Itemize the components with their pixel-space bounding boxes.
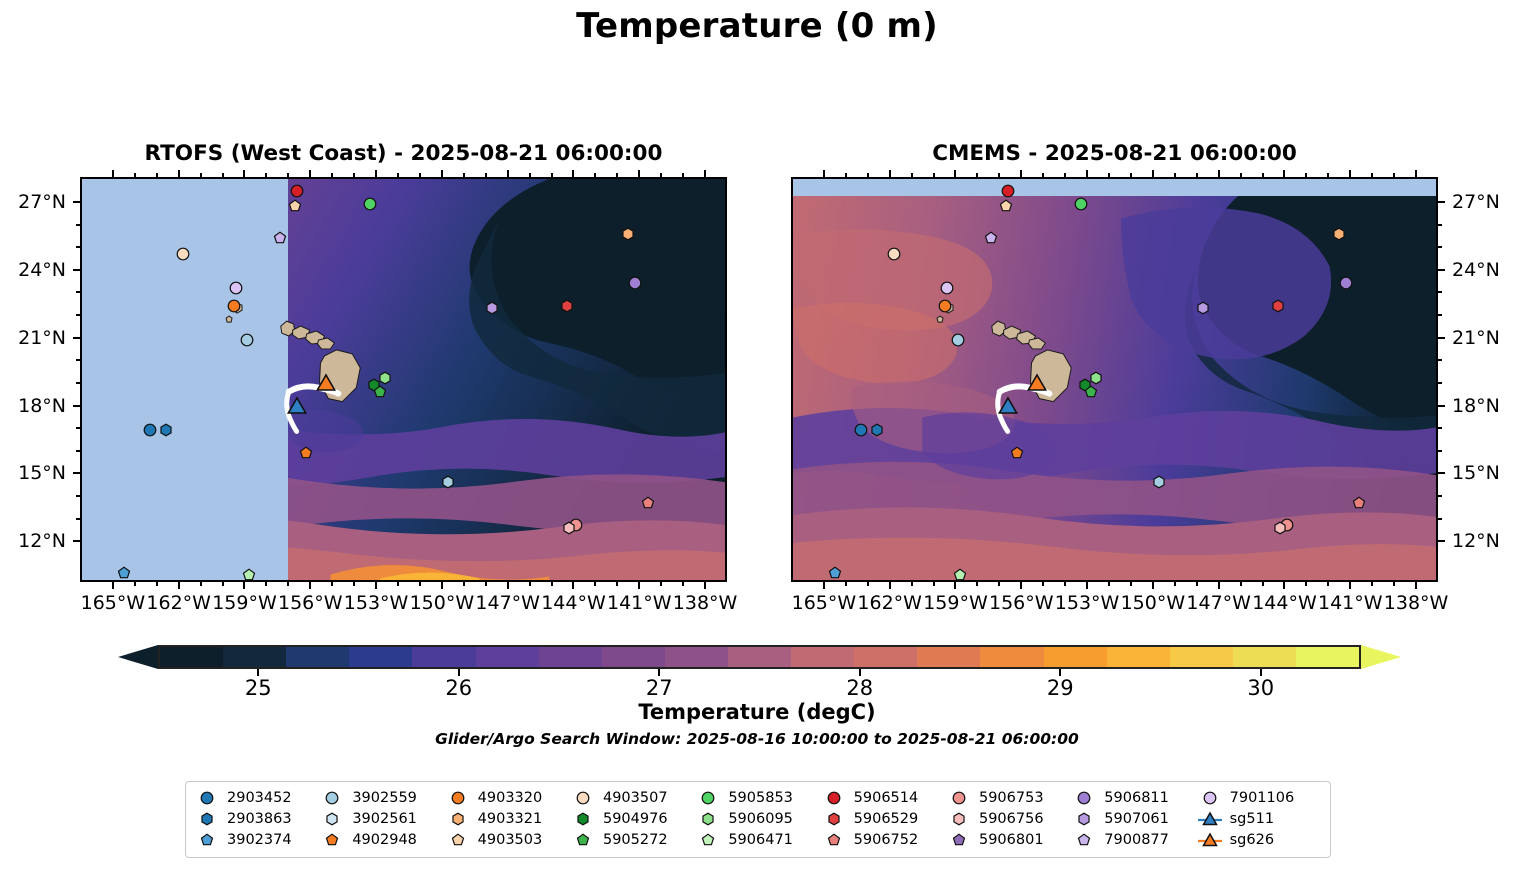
legend-label: 5906529 — [854, 811, 919, 827]
x-axis-minor-tick — [1064, 582, 1066, 586]
legend-item[interactable]: 3902561 — [319, 810, 444, 828]
legend-column: 490332049033214903503 — [445, 789, 570, 849]
argo-float-marker[interactable] — [951, 333, 965, 347]
y-axis-minor-tick — [1438, 382, 1442, 384]
x-axis-tick — [1086, 170, 1088, 177]
x-axis-label: 147°W — [1186, 592, 1251, 614]
x-axis-label: 165°W — [81, 592, 146, 614]
colorbar-band — [412, 647, 475, 667]
x-axis-tick — [309, 170, 311, 177]
colorbar-band — [980, 647, 1043, 667]
legend-item[interactable]: sg511 — [1197, 810, 1322, 828]
x-axis-minor-tick — [397, 173, 399, 177]
x-axis-minor-tick — [463, 173, 465, 177]
x-axis-minor-tick — [1174, 173, 1176, 177]
y-axis-minor-tick — [1438, 450, 1442, 452]
x-axis-minor-tick — [1393, 173, 1395, 177]
colorbar-band — [791, 647, 854, 667]
y-axis-label: 21°N — [1452, 327, 1500, 349]
argo-float-marker[interactable] — [485, 301, 499, 315]
legend-label: 3902561 — [352, 811, 417, 827]
x-axis-minor-tick — [867, 173, 869, 177]
y-axis-tick — [1438, 540, 1445, 542]
argo-float-marker[interactable] — [953, 568, 967, 582]
legend-label: 2903452 — [227, 790, 292, 806]
legend-label: 4903321 — [478, 811, 543, 827]
legend-marker-circle — [570, 789, 596, 807]
x-axis-minor-tick — [485, 173, 487, 177]
x-axis-tick — [638, 170, 640, 177]
legend-label: 5906752 — [854, 832, 919, 848]
colorbar-min-extend — [118, 645, 158, 669]
x-axis-minor-tick — [998, 173, 1000, 177]
legend-marker-pentagon — [319, 831, 345, 849]
legend-item[interactable]: 3902559 — [319, 789, 444, 807]
argo-float-marker[interactable] — [1271, 299, 1285, 313]
argo-float-marker[interactable] — [887, 247, 901, 261]
legend-label: 5907061 — [1104, 811, 1169, 827]
glider-marker[interactable] — [1028, 377, 1045, 394]
y-axis-minor-tick — [76, 246, 80, 248]
legend-column: 490350759049765905272 — [570, 789, 695, 849]
x-axis-tick — [1086, 582, 1088, 589]
y-axis-minor-tick — [1438, 495, 1442, 497]
glider-marker[interactable] — [317, 377, 334, 394]
legend-label: 4902948 — [352, 832, 417, 848]
legend-label: 5905272 — [603, 832, 668, 848]
x-axis-minor-tick — [397, 582, 399, 586]
x-axis-label: 141°W — [607, 592, 672, 614]
legend-item[interactable]: 2903863 — [194, 810, 319, 828]
x-axis-tick — [507, 582, 509, 589]
legend-item[interactable]: 4903320 — [445, 789, 570, 807]
no-data-strip-cmems — [793, 179, 1436, 196]
argo-float-marker[interactable] — [940, 281, 954, 295]
legend-marker-circle — [1197, 789, 1223, 807]
legend-item[interactable]: 5906514 — [821, 789, 946, 807]
colorbar-band — [223, 647, 286, 667]
x-axis-tick — [1283, 170, 1285, 177]
argo-float-marker[interactable] — [288, 199, 302, 213]
y-axis-label: 24°N — [18, 259, 66, 281]
x-axis-minor-tick — [594, 173, 596, 177]
y-axis-tick — [1438, 472, 1445, 474]
y-axis-minor-tick — [1438, 246, 1442, 248]
legend-marker-pentagon — [946, 831, 972, 849]
argo-float-marker[interactable] — [240, 333, 254, 347]
colorbar-band — [476, 647, 539, 667]
x-axis-minor-tick — [1240, 582, 1242, 586]
argo-float-marker[interactable] — [117, 566, 131, 580]
argo-float-marker[interactable] — [854, 423, 868, 437]
x-axis-minor-tick — [353, 173, 355, 177]
argo-float-marker[interactable] — [1010, 446, 1024, 460]
x-axis-minor-tick — [976, 582, 978, 586]
y-axis-tick — [1438, 269, 1445, 271]
legend-label: 3902559 — [352, 790, 417, 806]
x-axis-tick — [572, 582, 574, 589]
argo-float-marker[interactable] — [1089, 371, 1103, 385]
x-axis-minor-tick — [911, 173, 913, 177]
x-axis-minor-tick — [1130, 582, 1132, 586]
x-axis-minor-tick — [1305, 582, 1307, 586]
y-axis-label: 24°N — [1452, 259, 1500, 281]
legend-item[interactable]: 4903507 — [570, 789, 695, 807]
x-axis-tick — [1020, 170, 1022, 177]
legend-label: 4903507 — [603, 790, 668, 806]
x-axis-minor-tick — [1108, 173, 1110, 177]
y-axis-tick — [73, 269, 80, 271]
legend-marker-pentagon — [821, 831, 847, 849]
y-axis-minor-tick — [76, 224, 80, 226]
x-axis-tick — [375, 582, 377, 589]
x-axis-tick — [1020, 582, 1022, 589]
colorbar-tick — [458, 669, 460, 676]
colorbar-tick-label: 29 — [1047, 676, 1074, 700]
legend-label: 5905853 — [728, 790, 793, 806]
y-axis-minor-tick — [76, 359, 80, 361]
legend-item[interactable]: 5905272 — [570, 831, 695, 849]
colorbar-tick-label: 26 — [445, 676, 472, 700]
y-axis-minor-tick — [76, 291, 80, 293]
legend-label: 4903320 — [478, 790, 543, 806]
x-axis-minor-tick — [933, 582, 935, 586]
argo-float-marker[interactable] — [363, 197, 377, 211]
argo-float-marker[interactable] — [999, 199, 1013, 213]
legend-item[interactable]: 5906811 — [1071, 789, 1196, 807]
y-axis-label: 27°N — [18, 191, 66, 213]
legend-item[interactable]: 5907061 — [1071, 810, 1196, 828]
x-axis-minor-tick — [1130, 173, 1132, 177]
colorbar-band — [160, 647, 223, 667]
legend-item[interactable]: 5905853 — [695, 789, 820, 807]
legend-marker-pentagon — [194, 831, 220, 849]
legend-item[interactable]: 5906095 — [695, 810, 820, 828]
x-axis-tick — [112, 170, 114, 177]
glider-marker[interactable] — [289, 399, 306, 416]
x-axis-tick — [889, 582, 891, 589]
x-axis-minor-tick — [998, 582, 1000, 586]
argo-float-marker[interactable] — [560, 299, 574, 313]
x-axis-label: 153°W — [344, 592, 409, 614]
x-axis-tick — [889, 170, 891, 177]
x-axis-tick — [243, 170, 245, 177]
x-axis-minor-tick — [529, 173, 531, 177]
legend-marker-pentagon — [1071, 831, 1097, 849]
x-axis-minor-tick — [660, 173, 662, 177]
colorbar-band — [349, 647, 412, 667]
legend-marker-circle — [821, 789, 847, 807]
legend-label: 7901106 — [1230, 790, 1295, 806]
x-axis-minor-tick — [845, 173, 847, 177]
argo-float-marker[interactable] — [1352, 496, 1366, 510]
legend-label: sg626 — [1230, 832, 1274, 848]
x-axis-label: 147°W — [475, 592, 540, 614]
legend-column: 590651459065295906752 — [821, 789, 946, 849]
legend-marker-circle — [194, 789, 220, 807]
x-axis-minor-tick — [660, 582, 662, 586]
y-axis-minor-tick — [1438, 518, 1442, 520]
x-axis-tick — [375, 170, 377, 177]
argo-float-marker[interactable] — [984, 231, 998, 245]
colorbar-max-extend — [1361, 645, 1401, 669]
platform-legend[interactable]: 2903452290386339023743902559390256149029… — [185, 781, 1331, 858]
argo-float-marker[interactable] — [641, 496, 655, 510]
argo-float-marker[interactable] — [176, 247, 190, 261]
argo-float-marker[interactable] — [628, 276, 642, 290]
x-axis-minor-tick — [156, 173, 158, 177]
y-axis-minor-tick — [1438, 314, 1442, 316]
argo-float-marker[interactable] — [373, 385, 387, 399]
legend-item[interactable]: 7901106 — [1197, 789, 1322, 807]
colorbar-band — [665, 647, 728, 667]
argo-float-marker[interactable] — [562, 521, 576, 535]
argo-float-marker[interactable] — [378, 371, 392, 385]
x-axis-minor-tick — [551, 173, 553, 177]
legend-column: 590675359067565906801 — [946, 789, 1071, 849]
colorbar-band — [917, 647, 980, 667]
legend-item[interactable]: 2903452 — [194, 789, 319, 807]
legend-label: 5906811 — [1104, 790, 1169, 806]
argo-float-marker[interactable] — [1273, 521, 1287, 535]
argo-float-marker[interactable] — [1339, 276, 1353, 290]
figure-root: Temperature (0 m) RTOFS (West Coast) - 2… — [0, 0, 1514, 889]
x-axis-minor-tick — [1371, 582, 1373, 586]
colorbar-band — [1233, 647, 1296, 667]
legend-label: 5906095 — [728, 811, 793, 827]
argo-float-marker[interactable] — [938, 299, 952, 313]
x-axis-tick — [1415, 582, 1417, 589]
x-axis-minor-tick — [1042, 582, 1044, 586]
x-axis-label: 156°W — [278, 592, 343, 614]
x-axis-minor-tick — [331, 173, 333, 177]
argo-float-marker[interactable] — [1196, 301, 1210, 315]
x-axis-tick — [638, 582, 640, 589]
x-axis-minor-tick — [933, 173, 935, 177]
x-axis-label: 138°W — [1384, 592, 1449, 614]
legend-item[interactable]: 5906753 — [946, 789, 1071, 807]
x-axis-minor-tick — [551, 582, 553, 586]
y-axis-minor-tick — [76, 427, 80, 429]
argo-float-marker[interactable] — [273, 231, 287, 245]
x-axis-minor-tick — [1174, 582, 1176, 586]
x-axis-minor-tick — [867, 582, 869, 586]
legend-label: 5906514 — [854, 790, 919, 806]
x-axis-minor-tick — [331, 582, 333, 586]
x-axis-minor-tick — [1196, 173, 1198, 177]
y-axis-label: 15°N — [1452, 462, 1500, 484]
y-axis-label: 27°N — [1452, 191, 1500, 213]
colorbar-band — [1044, 647, 1107, 667]
y-axis-minor-tick — [76, 518, 80, 520]
x-axis-label: 159°W — [923, 592, 988, 614]
x-axis-minor-tick — [845, 582, 847, 586]
colorbar-tick — [1059, 669, 1061, 676]
legend-marker-circle — [1071, 789, 1097, 807]
colorbar-tick — [1260, 669, 1262, 676]
legend-marker-hexagon — [695, 810, 721, 828]
y-axis-label: 18°N — [1452, 395, 1500, 417]
legend-item[interactable]: 7900877 — [1071, 831, 1196, 849]
legend-item[interactable]: 3902374 — [194, 831, 319, 849]
x-axis-minor-tick — [419, 173, 421, 177]
x-axis-minor-tick — [463, 582, 465, 586]
legend-marker-circle — [695, 789, 721, 807]
y-axis-minor-tick — [1438, 359, 1442, 361]
legend-item[interactable]: 4903503 — [445, 831, 570, 849]
x-axis-label: 150°W — [410, 592, 475, 614]
x-axis-label: 144°W — [1252, 592, 1317, 614]
x-axis-minor-tick — [485, 582, 487, 586]
argo-float-marker[interactable] — [870, 423, 884, 437]
y-axis-tick — [73, 337, 80, 339]
legend-marker-hexagon — [445, 810, 471, 828]
legend-marker-hexagon — [570, 810, 596, 828]
x-axis-label: 165°W — [792, 592, 857, 614]
legend-marker-circle — [946, 789, 972, 807]
x-axis-tick — [1415, 170, 1417, 177]
legend-item[interactable]: 5906471 — [695, 831, 820, 849]
glider-marker[interactable] — [1000, 399, 1017, 416]
argo-float-marker[interactable] — [441, 475, 455, 489]
legend-item[interactable]: 5906529 — [821, 810, 946, 828]
x-axis-minor-tick — [976, 173, 978, 177]
x-axis-minor-tick — [682, 173, 684, 177]
colorbar-band — [602, 647, 665, 667]
argo-float-marker[interactable] — [242, 568, 256, 582]
x-axis-minor-tick — [156, 582, 158, 586]
x-axis-minor-tick — [134, 173, 136, 177]
argo-float-marker[interactable] — [828, 566, 842, 580]
x-axis-minor-tick — [1327, 582, 1329, 586]
x-axis-minor-tick — [911, 582, 913, 586]
legend-column: 590585359060955906471 — [695, 789, 820, 849]
colorbar-band — [1107, 647, 1170, 667]
colorbar-bands — [158, 645, 1361, 669]
y-axis-tick — [1438, 201, 1445, 203]
x-axis-minor-tick — [594, 582, 596, 586]
y-axis-minor-tick — [1438, 224, 1442, 226]
legend-marker-pentagon — [570, 831, 596, 849]
argo-float-marker[interactable] — [159, 423, 173, 437]
x-axis-tick — [1152, 582, 1154, 589]
legend-item[interactable]: 5906801 — [946, 831, 1071, 849]
y-axis-minor-tick — [76, 495, 80, 497]
legend-column: 390255939025614902948 — [319, 789, 444, 849]
argo-float-marker[interactable] — [621, 227, 635, 241]
x-axis-label: 162°W — [146, 592, 211, 614]
x-axis-tick — [112, 582, 114, 589]
x-axis-label: 162°W — [857, 592, 922, 614]
colorbar-tick-label: 27 — [646, 676, 673, 700]
x-axis-tick — [1218, 582, 1220, 589]
colorbar-band — [1170, 647, 1233, 667]
argo-float-marker[interactable] — [290, 184, 304, 198]
legend-item[interactable]: 5904976 — [570, 810, 695, 828]
colorbar-band — [854, 647, 917, 667]
argo-float-marker[interactable] — [1152, 475, 1166, 489]
argo-float-marker[interactable] — [1001, 184, 1015, 198]
x-axis-tick — [309, 582, 311, 589]
argo-float-marker[interactable] — [1332, 227, 1346, 241]
argo-float-marker[interactable] — [227, 299, 241, 313]
colorbar-tick-label: 28 — [846, 676, 873, 700]
x-axis-tick — [954, 582, 956, 589]
colorbar-tick-label: 25 — [245, 676, 272, 700]
argo-float-marker[interactable] — [1074, 197, 1088, 211]
legend-marker-pentagon — [695, 831, 721, 849]
colorbar-tick — [658, 669, 660, 676]
legend-item[interactable]: sg626 — [1197, 831, 1322, 849]
x-axis-minor-tick — [1262, 173, 1264, 177]
glider-track-symbol — [1197, 831, 1223, 849]
x-axis-tick — [954, 170, 956, 177]
x-axis-minor-tick — [1240, 173, 1242, 177]
legend-label: 5906801 — [979, 832, 1044, 848]
x-axis-minor-tick — [1262, 582, 1264, 586]
legend-label: 7900877 — [1104, 832, 1169, 848]
x-axis-minor-tick — [265, 173, 267, 177]
legend-item[interactable]: 5906752 — [821, 831, 946, 849]
legend-column: 290345229038633902374 — [194, 789, 319, 849]
colorbar-tick — [257, 669, 259, 676]
x-axis-label: 150°W — [1121, 592, 1186, 614]
colorbar[interactable] — [118, 645, 1401, 669]
x-axis-minor-tick — [616, 173, 618, 177]
argo-float-marker[interactable] — [1084, 385, 1098, 399]
no-data-mask-rtofs — [82, 179, 288, 580]
x-axis-minor-tick — [287, 582, 289, 586]
legend-label: 5906471 — [728, 832, 793, 848]
legend-item[interactable]: 4903321 — [445, 810, 570, 828]
legend-marker-circle — [445, 789, 471, 807]
legend-item[interactable]: 5906756 — [946, 810, 1071, 828]
x-axis-tick — [704, 582, 706, 589]
legend-marker-pentagon — [445, 831, 471, 849]
y-axis-label: 18°N — [18, 395, 66, 417]
x-axis-minor-tick — [134, 582, 136, 586]
x-axis-minor-tick — [353, 582, 355, 586]
y-axis-minor-tick — [76, 314, 80, 316]
legend-label: 5906756 — [979, 811, 1044, 827]
panel-title-cmems: CMEMS - 2025-08-21 06:00:00 — [791, 141, 1438, 166]
legend-marker-hexagon — [319, 810, 345, 828]
x-axis-minor-tick — [1371, 173, 1373, 177]
x-axis-minor-tick — [1064, 173, 1066, 177]
legend-label: sg511 — [1230, 811, 1274, 827]
x-axis-minor-tick — [529, 582, 531, 586]
legend-item[interactable]: 4902948 — [319, 831, 444, 849]
x-axis-minor-tick — [682, 582, 684, 586]
legend-label: 3902374 — [227, 832, 292, 848]
y-axis-label: 12°N — [18, 530, 66, 552]
x-axis-tick — [1152, 170, 1154, 177]
x-axis-label: 153°W — [1055, 592, 1120, 614]
x-axis-minor-tick — [1108, 582, 1110, 586]
x-axis-tick — [1349, 582, 1351, 589]
argo-float-marker[interactable] — [229, 281, 243, 295]
x-axis-minor-tick — [1042, 173, 1044, 177]
argo-float-marker[interactable] — [299, 446, 313, 460]
x-axis-label: 138°W — [673, 592, 738, 614]
legend-marker-hexagon — [1071, 810, 1097, 828]
x-axis-minor-tick — [287, 173, 289, 177]
x-axis-minor-tick — [222, 173, 224, 177]
colorbar-band — [286, 647, 349, 667]
x-axis-tick — [823, 170, 825, 177]
y-axis-minor-tick — [1438, 291, 1442, 293]
argo-float-marker[interactable] — [143, 423, 157, 437]
